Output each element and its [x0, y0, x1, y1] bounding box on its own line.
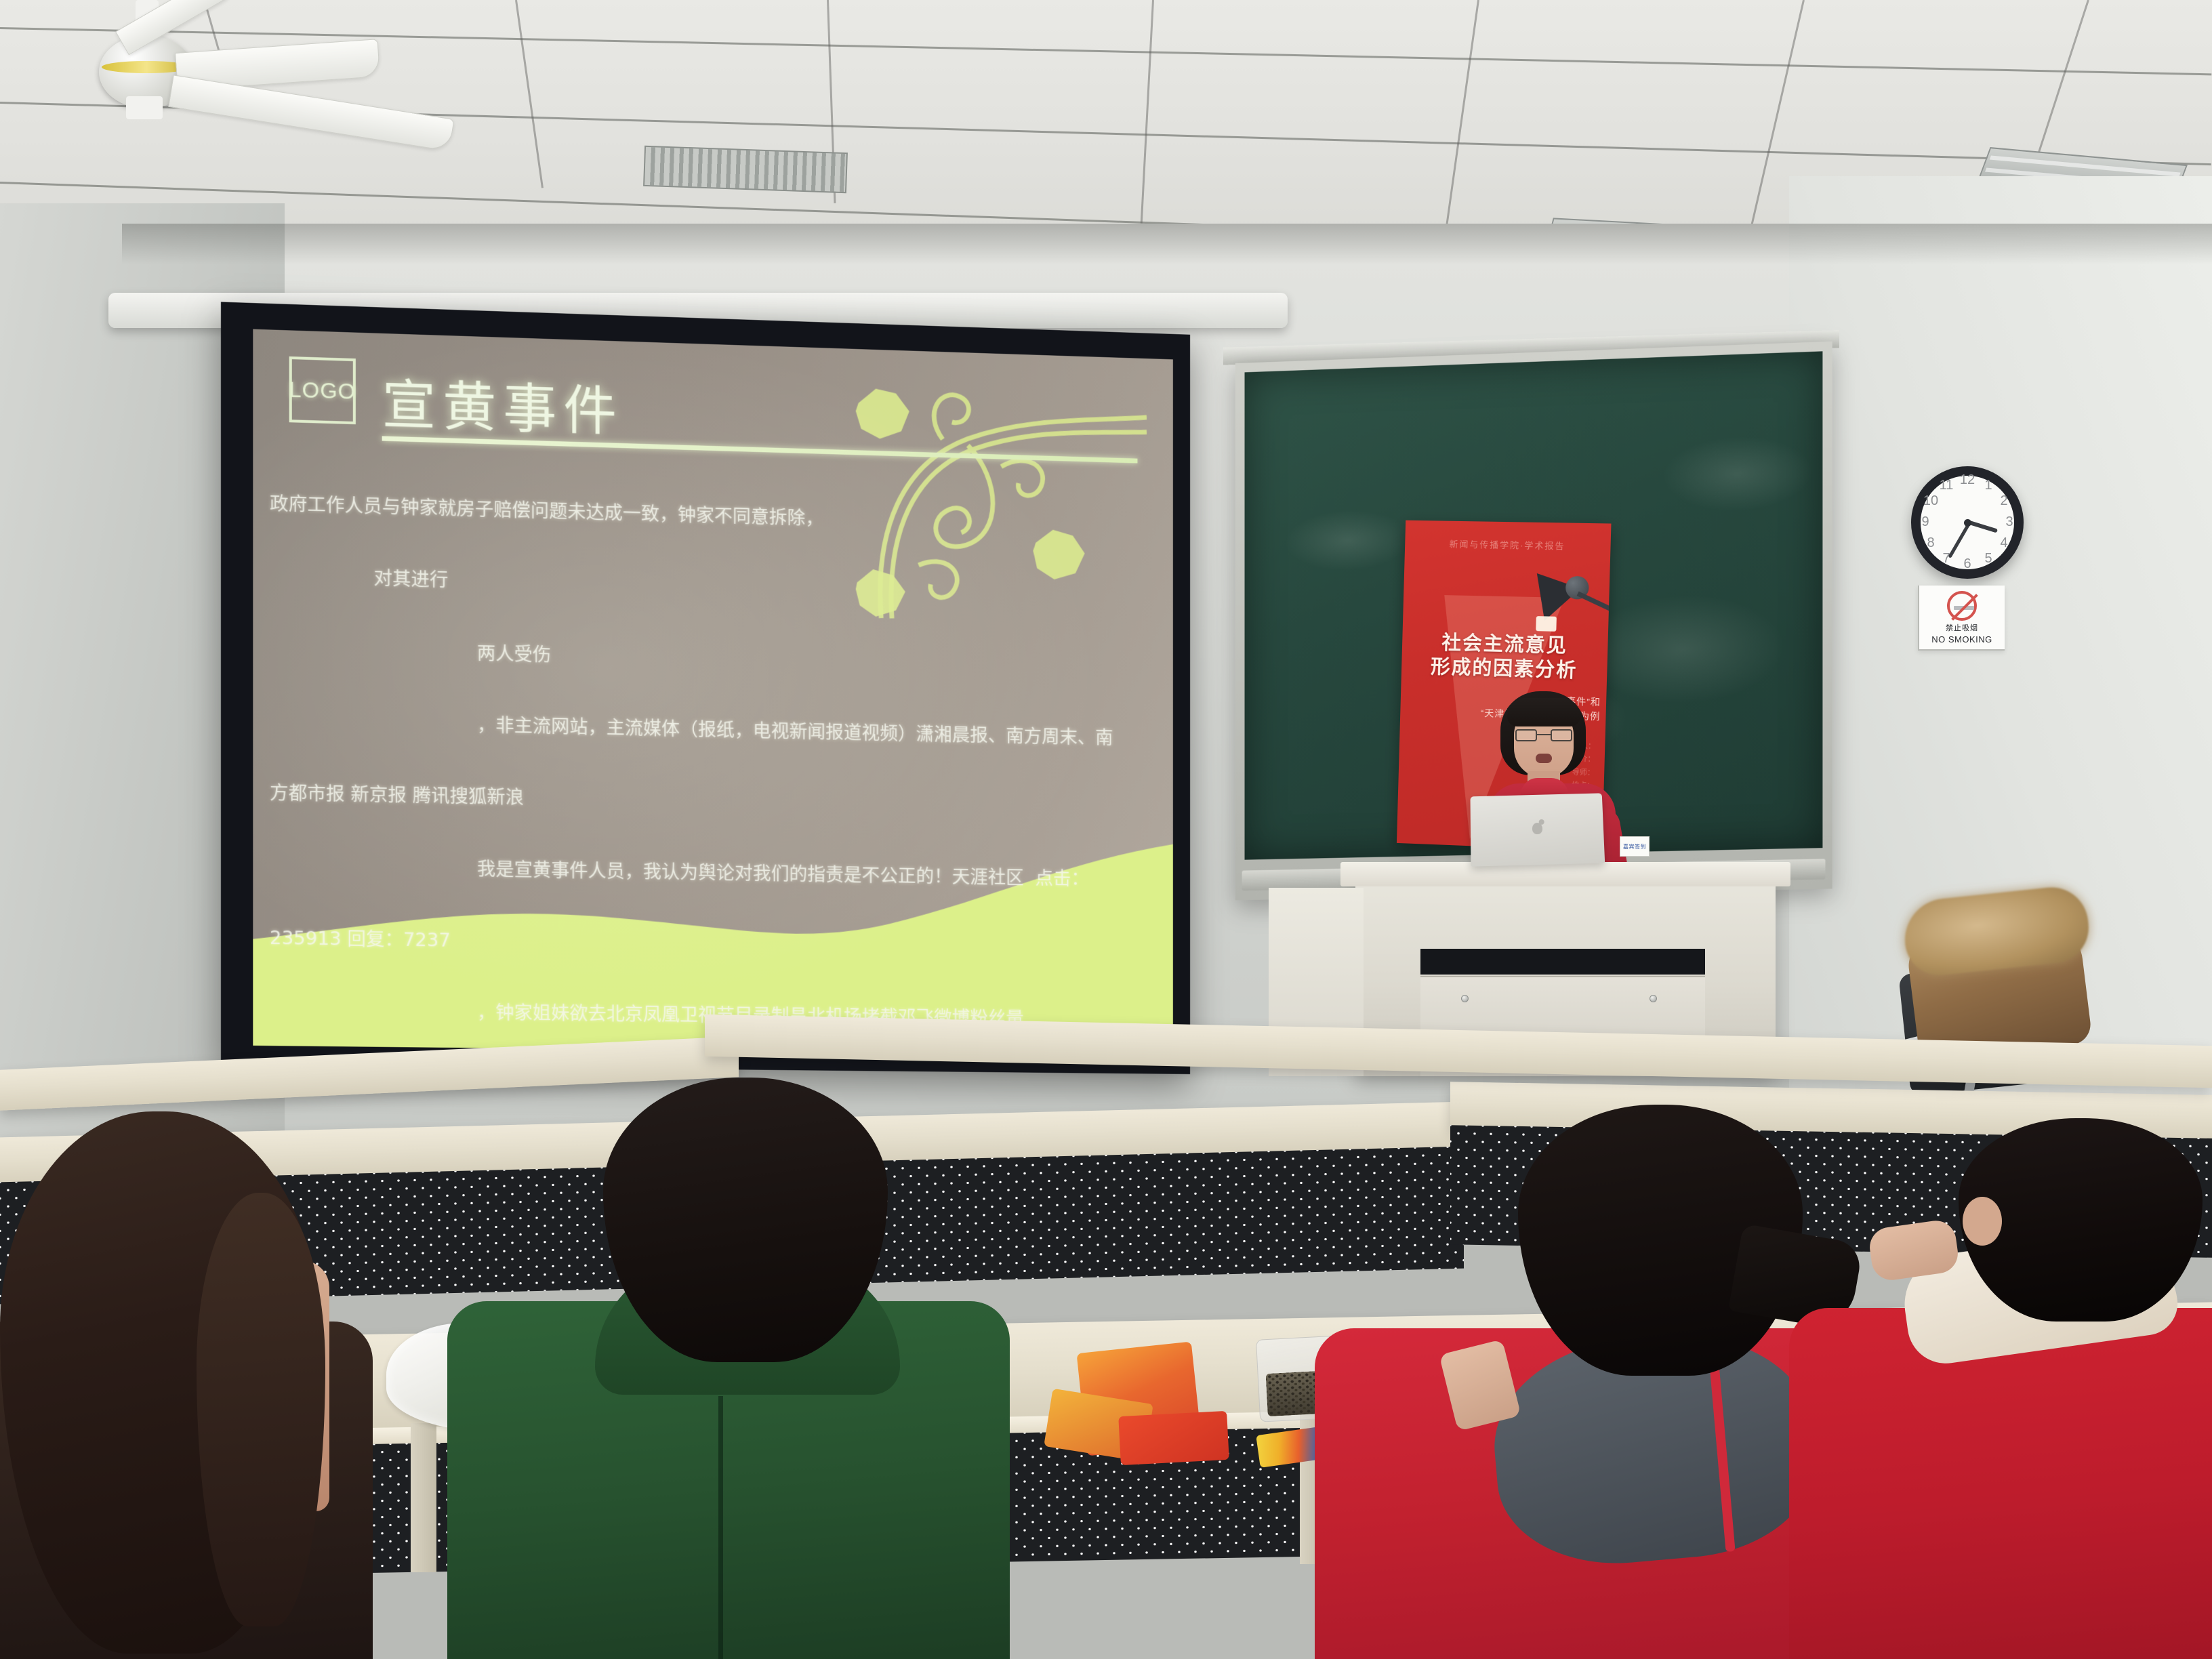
clock-number: 2 — [1995, 493, 2013, 509]
slide-line: 两人受伤 — [270, 636, 1166, 680]
clock-number: 5 — [1980, 551, 1997, 567]
student-hair-front-lock — [197, 1193, 325, 1626]
fan-blade — [168, 75, 454, 151]
clock-number: 1 — [1980, 478, 1997, 493]
slide-logo-placeholder: LOGO — [289, 356, 356, 424]
fan-downrod — [126, 96, 163, 119]
student-far-right — [1830, 1118, 2212, 1659]
clock-number: 4 — [1995, 535, 2013, 551]
slide-surface: LOGO 宣黄事件 政府工作人员与钟家就房子赔偿问题未达成一致，钟家不同意拆除，… — [253, 329, 1173, 1056]
poster-title-line1: 社会主流意见 — [1441, 631, 1568, 657]
presenter-mouth — [1536, 754, 1552, 763]
slide-title: 宣黄事件 — [382, 362, 623, 446]
no-smoking-label-cn: 禁止吸烟 — [1946, 622, 1978, 633]
student-hair — [603, 1078, 888, 1362]
laptop[interactable] — [1471, 793, 1605, 866]
student-coat-seam — [718, 1396, 723, 1659]
no-smoking-label-en: NO SMOKING — [1931, 634, 1992, 644]
slide-line: 方都市报 新京报 腾讯搜狐新浪 — [270, 781, 1166, 821]
podium-equipment-slot — [1420, 949, 1705, 975]
wall-shadow — [122, 224, 2212, 264]
poster-title-line2: 形成的因素分析 — [1431, 655, 1578, 682]
apple-logo-icon — [1532, 822, 1542, 834]
podium-worktop — [1340, 862, 1790, 886]
clock-center-pin — [1964, 519, 1971, 527]
clock-number: 8 — [1922, 535, 1940, 551]
slide-line: 我是宣黄事件人员，我认为舆论对我们的指责是不公正的！天涯社区 点击： — [270, 854, 1166, 892]
clock-number: 12 — [1959, 472, 1976, 488]
lamp-bulb-glow — [1536, 616, 1557, 632]
clock-number: 9 — [1917, 514, 1934, 530]
no-smoking-sign: 禁止吸烟 NO SMOKING — [1918, 586, 2005, 651]
clock-number: 10 — [1922, 493, 1940, 509]
slide-body-text: 政府工作人员与钟家就房子赔偿问题未达成一致，钟家不同意拆除， 对其进行 两人受伤… — [270, 444, 1166, 1055]
ceiling-vent — [643, 146, 848, 193]
name-card: 嘉宾签到 — [1620, 836, 1650, 857]
student-left — [501, 1078, 1003, 1659]
student-ear — [1963, 1197, 2002, 1246]
snack-packet[interactable] — [1118, 1411, 1229, 1465]
no-smoking-icon — [1947, 591, 1977, 621]
student-far-left — [0, 1111, 447, 1659]
slide-line: 235913 回复：7237 — [270, 926, 1166, 962]
presenter-bangs — [1507, 698, 1580, 726]
slide-line: 对其进行 — [270, 565, 1166, 611]
coat-on-chair — [1892, 885, 2104, 1054]
student-coat — [1789, 1308, 2212, 1659]
clock-number: 11 — [1938, 478, 1955, 493]
podium-door-knob[interactable] — [1650, 995, 1657, 1002]
poster-title: 社会主流意见 形成的因素分析 — [1401, 629, 1608, 683]
poster-header: 新闻与传播学院·学术报告 — [1405, 537, 1611, 553]
glasses-icon — [1515, 729, 1572, 741]
slide-line: ，非主流网站，主流媒体（报纸，电视新闻报道视频）潇湘晨报、南方周末、南 — [270, 709, 1166, 751]
clock-number: 3 — [2001, 514, 2018, 530]
slide-line: 政府工作人员与钟家就房子赔偿问题未达成一致，钟家不同意拆除， — [270, 492, 1166, 540]
classroom-scene: LOGO 宣黄事件 政府工作人员与钟家就房子赔偿问题未达成一致，钟家不同意拆除，… — [0, 0, 2212, 1659]
lamp-arm-icon — [1577, 592, 1612, 631]
wall-clock: 12 1 2 3 4 5 6 7 8 9 10 11 — [1911, 466, 2024, 579]
clock-number: 6 — [1959, 556, 1976, 572]
projection-screen: LOGO 宣黄事件 政府工作人员与钟家就房子赔偿问题未达成一致，钟家不同意拆除，… — [221, 302, 1190, 1074]
podium-door-knob[interactable] — [1461, 995, 1469, 1002]
